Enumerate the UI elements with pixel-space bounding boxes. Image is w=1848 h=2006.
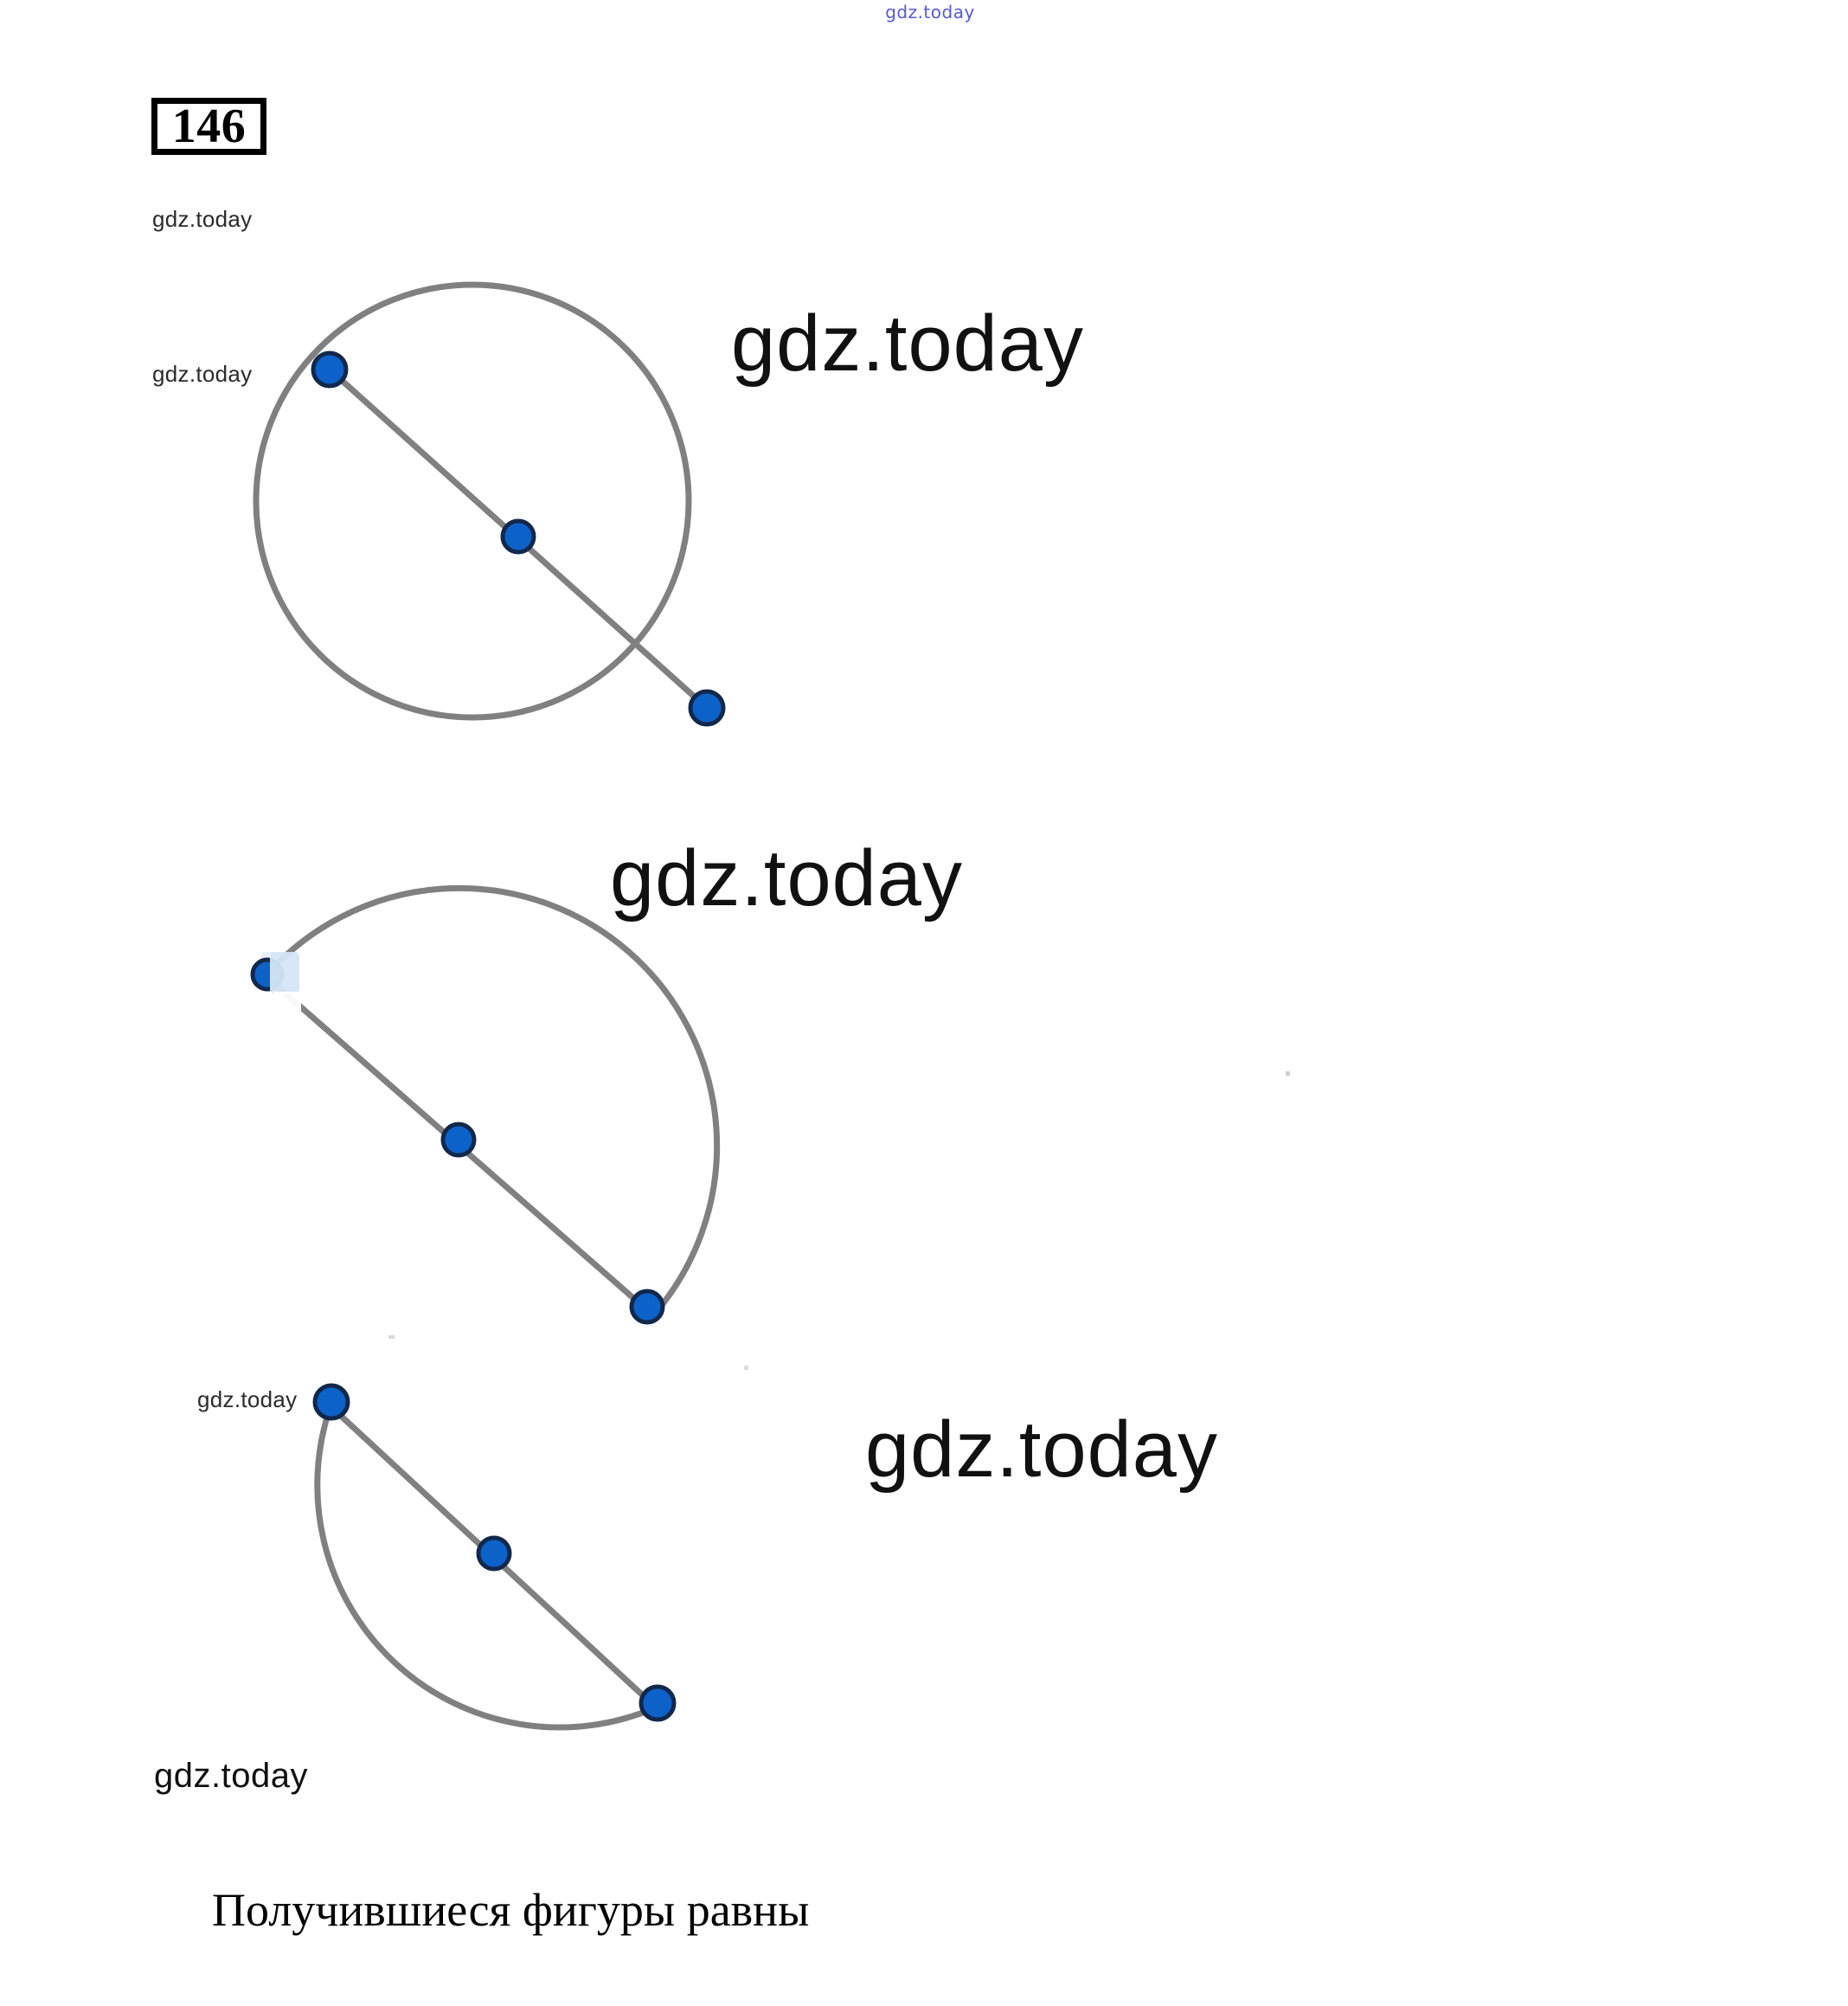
exercise-number-label: 146	[172, 102, 247, 151]
scan-artifact-3	[388, 1335, 395, 1339]
half-disc-lower-chord	[330, 1406, 656, 1707]
watermark-large-1: gdz.today	[731, 299, 1084, 389]
watermark-small-2: gdz.today	[152, 361, 252, 388]
watermark-medium-1: gdz.today	[154, 1757, 308, 1796]
figure-full-circle	[256, 285, 723, 724]
half-disc-lower-arc	[318, 1406, 656, 1727]
half-disc-upper-chord	[266, 976, 653, 1315]
figure-half-disc-upper	[253, 888, 717, 1322]
exercise-number-box: 146	[151, 98, 266, 155]
circle-outline	[256, 285, 689, 717]
figure-caption: Получившиеся фигуры равны	[212, 1883, 809, 1937]
point-a-figure-3	[315, 1386, 348, 1418]
point-b-figure-3	[641, 1687, 674, 1720]
point-b-figure-2	[632, 1291, 663, 1322]
point-b-figure-1	[690, 691, 723, 724]
circle-diameter	[330, 370, 707, 708]
page-canvas: gdz.today 146 gdz.today gdz.today gdz.to…	[0, 0, 1848, 2006]
watermark-small-3: gdz.today	[197, 1386, 297, 1413]
scan-artifact-2	[1286, 1071, 1290, 1076]
watermark-small-1: gdz.today	[152, 206, 252, 233]
watermark-large-3: gdz.today	[865, 1405, 1218, 1495]
occlusion-patch-figure-2b	[273, 992, 301, 1011]
half-disc-upper-arc	[266, 888, 717, 1315]
figure-half-disc-lower	[315, 1386, 674, 1727]
point-center-figure-1	[503, 521, 534, 552]
point-center-figure-3	[478, 1538, 510, 1569]
watermark-large-2: gdz.today	[610, 833, 963, 924]
scan-artifact-4	[744, 1366, 748, 1370]
point-center-figure-2	[443, 1124, 474, 1155]
scan-artifact-1	[261, 952, 291, 990]
watermark-top-center: gdz.today	[822, 2, 1038, 23]
point-a-figure-1	[313, 353, 346, 386]
